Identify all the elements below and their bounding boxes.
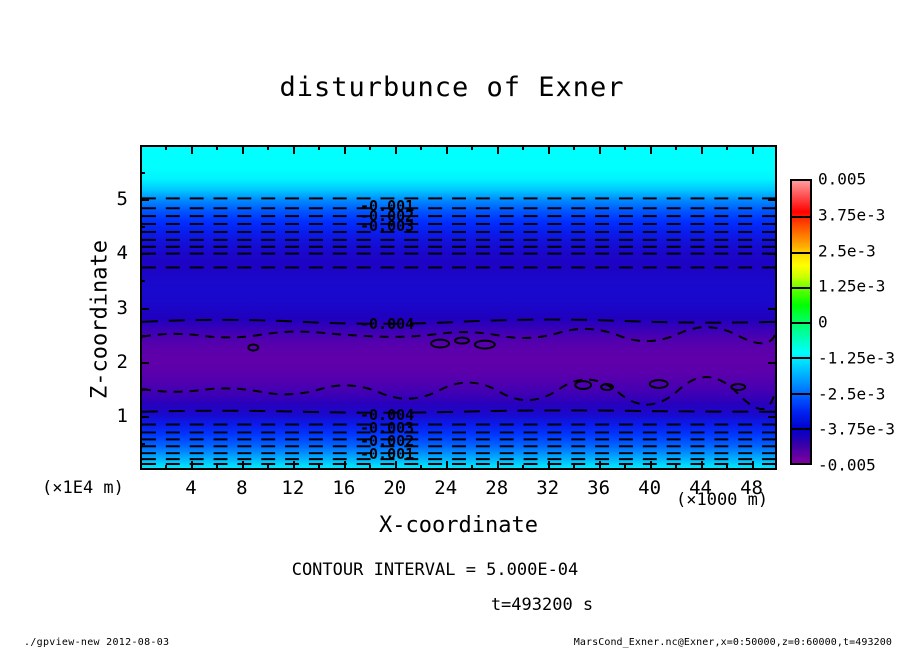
contour-label: -0.003 [360,217,414,235]
colorbar-divider [792,287,810,289]
x-axis-label: 28 [485,477,508,499]
contour-interval-note: CONTOUR INTERVAL = 5.000E-04 [0,560,870,580]
colorbar-divider [792,216,810,218]
x-axis-label: 16 [332,477,355,499]
y-axis-title: Z-coordinate [88,180,113,460]
colorbar-tick-label: 1.25e-3 [818,277,885,296]
contour-label: -0.001 [360,445,414,463]
contour-lines-layer [142,147,775,468]
footer-command: ./gpview-new 2012-08-03 [24,637,169,648]
x-axis-label: 24 [434,477,457,499]
x-axis-label: 40 [638,477,661,499]
x-axis-label: 32 [536,477,559,499]
footer-source: MarsCond_Exner.nc@Exner,x=0:50000,z=0:60… [574,637,892,648]
x-axis-title: X-coordinate [140,513,777,538]
colorbar-divider [792,357,810,359]
colorbar-tick-label: 0.005 [818,170,866,189]
x-axis-label: 12 [281,477,304,499]
colorbar-tick-label: 2.5e-3 [818,241,876,260]
x-axis-label: 36 [587,477,610,499]
y-axis-unit: (×1E4 m) [42,478,124,498]
colorbar-divider [792,463,810,465]
colorbar-divider [792,428,810,430]
colorbar-tick-label: -3.75e-3 [818,420,895,439]
colorbar-tick-label: -1.25e-3 [818,348,895,367]
colorbar-tick-label: -2.5e-3 [818,384,885,403]
colorbar-tick-label: -0.005 [818,456,876,475]
plot-area: -0.001 -0.002 -0.003 -0.004 -0.004 -0.00… [140,145,777,470]
x-axis-label: 8 [236,477,247,499]
colorbar-tick-label: 0 [818,313,828,332]
x-axis-label: 20 [383,477,406,499]
x-axis-label: 4 [185,477,196,499]
colorbar-divider [792,322,810,324]
colorbar-divider [792,252,810,254]
contour-label: -0.004 [360,315,414,333]
page-title: disturbunce of Exner [0,72,904,103]
x-axis-unit: (×1000 m) [676,490,768,510]
colorbar-tick-label: 3.75e-3 [818,205,885,224]
colorbar [790,179,812,465]
timestamp-note: t=493200 s [0,595,904,615]
colorbar-divider [792,393,810,395]
